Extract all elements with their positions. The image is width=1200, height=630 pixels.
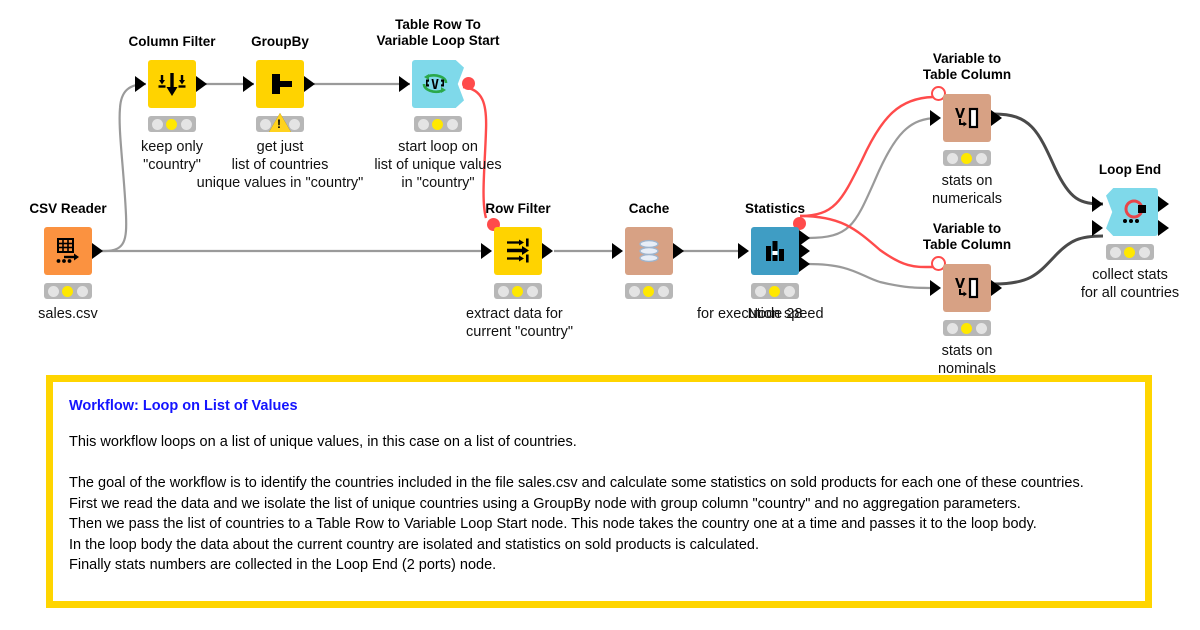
input-port-data[interactable]: [930, 280, 941, 296]
node-comment: stats on nominals: [892, 342, 1042, 378]
status-lamp-red: [947, 323, 958, 334]
status-lamp-green: [527, 286, 538, 297]
table-arrow-icon[interactable]: [44, 227, 92, 275]
group-bracket-icon-glyph: [265, 69, 295, 99]
variable-to-column-icon-glyph: V: [953, 274, 981, 302]
status-indicator: [44, 283, 92, 299]
output-port-data[interactable]: [92, 243, 103, 259]
variable-to-column-icon-glyph: V: [953, 104, 981, 132]
input-port-data[interactable]: [481, 243, 492, 259]
status-lamp-green: [77, 286, 88, 297]
loop-recycle-icon[interactable]: [1106, 188, 1158, 236]
output-port-data-3[interactable]: [799, 256, 810, 272]
node-title: Row Filter: [485, 201, 550, 217]
node-loop-end[interactable]: Loop End collect stats for all countries: [1106, 188, 1158, 236]
node-title: Loop End: [1099, 162, 1161, 178]
status-indicator: [625, 283, 673, 299]
input-port-data[interactable]: [930, 110, 941, 126]
node-variable-to-table-column-nominals[interactable]: Variable to Table Column V stats on nomi…: [943, 264, 991, 312]
status-lamp-green: [976, 153, 987, 164]
status-lamp-red: [48, 286, 59, 297]
group-bracket-icon[interactable]: [256, 60, 304, 108]
status-lamp-green: [784, 286, 795, 297]
database-cylinder-icon-glyph: [635, 237, 663, 265]
status-lamp-red: [947, 153, 958, 164]
status-indicator: [1106, 244, 1154, 260]
node-comment: sales.csv: [0, 305, 138, 323]
annotation-title: Workflow: Loop on List of Values: [69, 398, 298, 414]
wire-statistics-vartotable2-data: [808, 264, 938, 288]
output-port-data[interactable]: [304, 76, 315, 92]
status-lamp-green: [181, 119, 192, 130]
status-lamp-red: [755, 286, 766, 297]
table-arrow-icon-glyph: [53, 236, 83, 266]
status-lamp-yellow: [643, 286, 654, 297]
status-lamp-green: [1139, 247, 1150, 258]
status-indicator: [494, 283, 542, 299]
variable-recycle-icon[interactable]: V: [412, 60, 464, 108]
input-port-data[interactable]: [612, 243, 623, 259]
warning-icon: [269, 113, 291, 132]
status-indicator: [148, 116, 196, 132]
output-port-data[interactable]: [542, 243, 553, 259]
status-lamp-yellow: [62, 286, 73, 297]
workflow-canvas[interactable]: CSV Reader sales.csv Column Filter: [0, 0, 1200, 630]
node-column-filter[interactable]: Column Filter keep only "country": [148, 60, 196, 108]
node-statistics[interactable]: Statistics Node 28: [751, 227, 799, 275]
status-lamp-yellow: [1124, 247, 1135, 258]
node-cache[interactable]: Cache for execution speed: [625, 227, 673, 275]
output-port-data-2[interactable]: [1158, 220, 1169, 236]
status-lamp-red: [152, 119, 163, 130]
down-arrows-filter-icon[interactable]: [148, 60, 196, 108]
node-title: CSV Reader: [29, 201, 106, 217]
node-comment: collect stats for all countries: [1040, 266, 1200, 302]
input-port-data-1[interactable]: [1092, 196, 1103, 212]
output-port-data[interactable]: [991, 110, 1002, 126]
node-title: Table Row To Variable Loop Start: [376, 17, 499, 49]
status-lamp-yellow: [961, 323, 972, 334]
variable-to-column-icon[interactable]: V: [943, 264, 991, 312]
output-port-data[interactable]: [673, 243, 684, 259]
node-title: Column Filter: [129, 34, 216, 50]
node-title: GroupBy: [251, 34, 309, 50]
bar-chart-icon-glyph: [761, 237, 789, 265]
input-port-data[interactable]: [738, 243, 749, 259]
row-arrows-filter-icon[interactable]: [494, 227, 542, 275]
node-comment: stats on numericals: [892, 172, 1042, 208]
status-lamp-red: [498, 286, 509, 297]
node-comment: Node 28: [715, 305, 835, 323]
node-groupby[interactable]: GroupBy get just list of countries uniqu…: [256, 60, 304, 108]
variable-recycle-icon-glyph: V: [420, 71, 450, 97]
node-table-row-to-variable-loop-start[interactable]: Table Row To Variable Loop Start V start…: [412, 60, 464, 108]
status-indicator: [943, 320, 991, 336]
node-title: Variable to Table Column: [923, 221, 1011, 253]
loop-recycle-icon-glyph: [1120, 197, 1150, 227]
output-port-data-1[interactable]: [1158, 196, 1169, 212]
bar-chart-icon[interactable]: [751, 227, 799, 275]
input-port-data-2[interactable]: [1092, 220, 1103, 236]
node-row-filter[interactable]: Row Filter extract data for current "cou…: [494, 227, 542, 275]
status-lamp-yellow: [432, 119, 443, 130]
node-comment: start loop on list of unique values in "…: [328, 138, 548, 192]
input-port-data[interactable]: [243, 76, 254, 92]
status-indicator: [751, 283, 799, 299]
status-indicator: [943, 150, 991, 166]
output-port-flow-variable[interactable]: [462, 77, 475, 90]
status-lamp-yellow: [769, 286, 780, 297]
down-arrows-filter-icon-glyph: [156, 68, 188, 100]
node-title: Variable to Table Column: [923, 51, 1011, 83]
status-lamp-yellow: [166, 119, 177, 130]
status-lamp-yellow: [512, 286, 523, 297]
variable-to-column-icon[interactable]: V: [943, 94, 991, 142]
node-title: Statistics: [745, 201, 805, 217]
status-indicator: [414, 116, 462, 132]
annotation-body: This workflow loops on a list of unique …: [69, 432, 1131, 576]
row-arrows-filter-icon-glyph: [503, 236, 533, 266]
output-port-data[interactable]: [991, 280, 1002, 296]
wire-statistics-vartotable2-flowvar: [800, 216, 933, 267]
output-port-data[interactable]: [196, 76, 207, 92]
status-lamp-green: [447, 119, 458, 130]
node-variable-to-table-column-numericals[interactable]: Variable to Table Column V stats on nume…: [943, 94, 991, 142]
database-cylinder-icon[interactable]: [625, 227, 673, 275]
workflow-annotation[interactable]: Workflow: Loop on List of Values This wo…: [46, 375, 1152, 608]
status-lamp-red: [629, 286, 640, 297]
node-csv-reader[interactable]: CSV Reader sales.csv: [44, 227, 92, 275]
node-title: Cache: [629, 201, 670, 217]
status-lamp-yellow: [961, 153, 972, 164]
status-lamp-red: [418, 119, 429, 130]
status-lamp-green: [658, 286, 669, 297]
node-comment: extract data for current "country": [466, 305, 686, 341]
status-lamp-red: [1110, 247, 1121, 258]
svg-text:V: V: [431, 78, 439, 93]
input-port-data[interactable]: [135, 76, 146, 92]
input-port-data[interactable]: [399, 76, 410, 92]
status-lamp-green: [976, 323, 987, 334]
